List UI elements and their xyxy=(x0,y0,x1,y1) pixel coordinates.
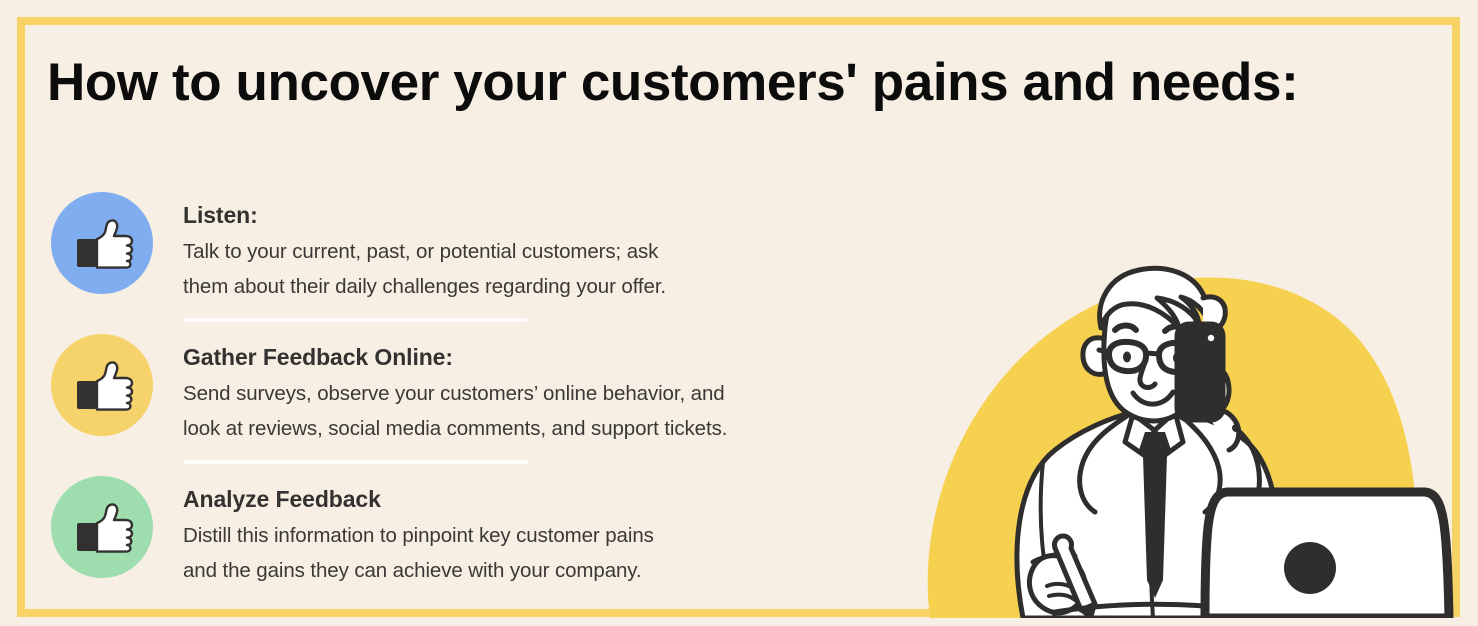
phone-camera xyxy=(1208,335,1214,341)
thumbs-up-badge xyxy=(51,192,153,294)
list-item-description: Send surveys, observe your customers’ on… xyxy=(183,376,851,446)
page-title: How to uncover your customers' pains and… xyxy=(47,50,1367,116)
list-item: Listen: Talk to your current, past, or p… xyxy=(51,192,851,304)
list-item-body: Analyze Feedback Distill this informatio… xyxy=(183,476,851,588)
cuff-button xyxy=(1232,424,1240,432)
illustration-svg xyxy=(905,250,1465,618)
list-item-heading: Listen: xyxy=(183,200,851,230)
steps-list: Listen: Talk to your current, past, or p… xyxy=(51,192,851,588)
list-item-heading: Analyze Feedback xyxy=(183,484,851,514)
list-item-description: Distill this information to pinpoint key… xyxy=(183,518,851,588)
laptop-logo xyxy=(1284,542,1336,594)
infographic-canvas: How to uncover your customers' pains and… xyxy=(0,0,1478,626)
thumbs-up-badge xyxy=(51,476,153,578)
list-item-body: Listen: Talk to your current, past, or p… xyxy=(183,192,851,304)
smartphone xyxy=(1177,324,1223,420)
list-item-body: Gather Feedback Online: Send surveys, ob… xyxy=(183,334,851,446)
ear xyxy=(1083,338,1103,375)
list-item: Analyze Feedback Distill this informatio… xyxy=(51,476,851,588)
divider xyxy=(183,460,528,464)
thumbs-up-icon xyxy=(51,192,153,294)
thumbs-up-icon xyxy=(51,334,153,436)
list-item: Gather Feedback Online: Send surveys, ob… xyxy=(51,334,851,446)
list-item-heading: Gather Feedback Online: xyxy=(183,342,851,372)
divider xyxy=(183,318,528,322)
eye-left xyxy=(1123,352,1131,363)
thumbs-up-badge xyxy=(51,334,153,436)
thumbs-up-icon xyxy=(51,476,153,578)
man-on-phone-with-laptop-illustration xyxy=(905,250,1465,618)
list-item-description: Talk to your current, past, or potential… xyxy=(183,234,851,304)
